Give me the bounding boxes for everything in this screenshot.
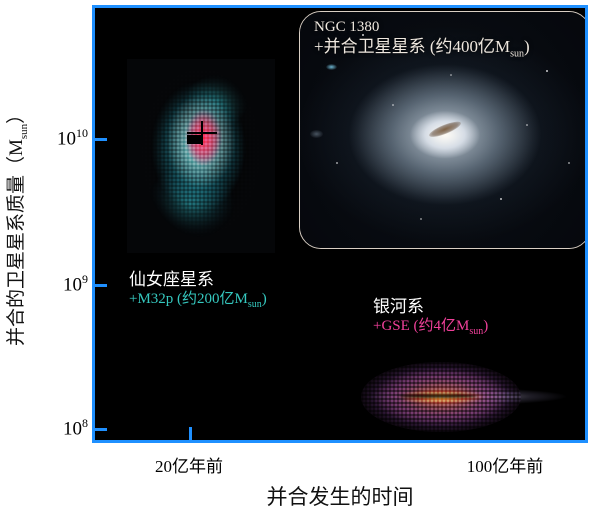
andromeda-caption-subtitle: +M32p (约200亿Msun) (129, 290, 267, 312)
y-axis-title: 并合的卫星星系质量（Msun） (0, 50, 34, 400)
star-icon (336, 162, 338, 164)
y-tick-label-1e8: 108 (63, 416, 88, 440)
y-axis-title-prefix: 并合的卫星星系质量（M (7, 139, 28, 346)
andromeda-caption-title: 仙女座星系 (129, 269, 267, 290)
y-axis-tick-1e9 (95, 284, 107, 287)
plot-canvas: NGC 1380 +并合卫星星系 (约400亿Msun) 仙女座星系 +M32p… (95, 8, 585, 440)
star-icon (526, 124, 528, 126)
star-icon (420, 218, 422, 220)
star-icon (568, 162, 570, 164)
ngc1380-inset-panel: NGC 1380 +并合卫星星系 (约400亿Msun) (299, 11, 588, 249)
y-axis-tick-1e10 (95, 138, 107, 141)
ngc1380-background-blue-galaxy (326, 64, 337, 70)
x-tick-label-2gyr: 20亿年前 (155, 452, 223, 477)
milkyway-caption: 银河系 +GSE (约4亿Msun) (373, 296, 488, 339)
merger-mass-vs-time-figure: 并合的卫星星系质量（Msun） 1010 109 108 (0, 0, 600, 519)
ngc1380-caption: NGC 1380 +并合卫星星系 (约400亿Msun) (314, 18, 582, 61)
andromeda-pixel-noise (135, 65, 267, 247)
plot-frame: NGC 1380 +并合卫星星系 (约400亿Msun) 仙女座星系 +M32p… (92, 5, 588, 443)
ngc1380-background-faint-galaxy (310, 130, 323, 138)
andromeda-masked-core (187, 135, 203, 144)
star-icon (500, 198, 502, 200)
x-axis-tick-2gyr (189, 427, 192, 440)
star-icon (546, 70, 548, 72)
ngc1380-caption-line1: NGC 1380 (314, 18, 582, 36)
y-axis-title-subscript: sun (18, 123, 30, 138)
milkyway-galaxy-image (353, 352, 577, 441)
y-axis-title-suffix: ） (7, 104, 28, 123)
milkyway-caption-subtitle: +GSE (约4亿Msun) (373, 317, 488, 339)
milkyway-dust-lane (399, 394, 477, 398)
x-axis-title: 并合发生的时间 (92, 481, 588, 511)
y-axis-tick-1e8 (95, 428, 107, 431)
y-tick-label-1e10: 1010 (57, 126, 88, 150)
star-icon (392, 104, 394, 106)
x-tick-label-10gyr: 100亿年前 (467, 452, 544, 477)
andromeda-caption: 仙女座星系 +M32p (约200亿Msun) (129, 269, 267, 312)
y-tick-label-1e9: 109 (63, 272, 88, 296)
andromeda-galaxy-image (127, 59, 275, 253)
star-icon (450, 74, 452, 76)
ngc1380-caption-line2: +并合卫星星系 (约400亿Msun) (314, 37, 582, 61)
milkyway-caption-title: 银河系 (373, 296, 488, 317)
